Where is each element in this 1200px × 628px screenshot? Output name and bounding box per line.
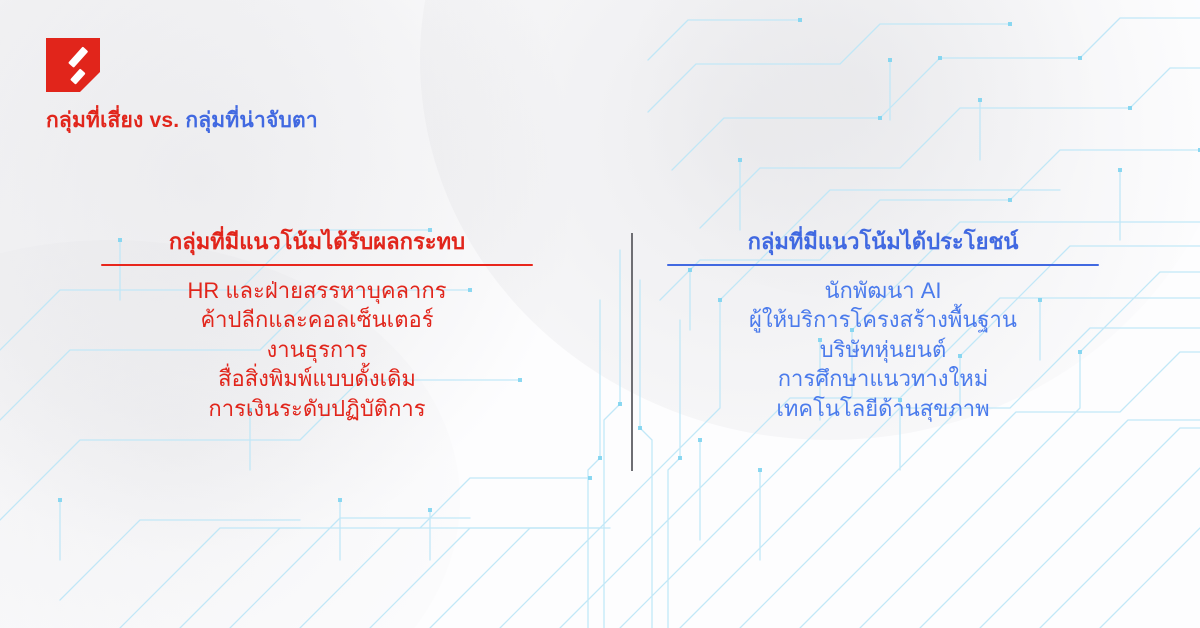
brand-logo-icon	[46, 38, 100, 92]
page-title: กลุ่มที่เสี่ยง vs. กลุ่มที่น่าจับตา	[46, 104, 318, 137]
column-to-watch-underline	[667, 264, 1099, 267]
list-item: สื่อสิ่งพิมพ์แบบดั้งเดิม	[187, 364, 446, 393]
list-item: การเงินระดับปฏิบัติการ	[187, 394, 446, 423]
list-item: บริษัทหุ่นยนต์	[749, 335, 1017, 364]
column-at-risk: กลุ่มที่มีแนวโน้มได้รับผลกระทบ HR และฝ่า…	[34, 228, 600, 423]
list-item: HR และฝ่ายสรรหาบุคลากร	[187, 276, 446, 305]
column-at-risk-underline	[101, 264, 533, 267]
list-item: ผู้ให้บริการโครงสร้างพื้นฐาน	[749, 305, 1017, 334]
comparison-columns: กลุ่มที่มีแนวโน้มได้รับผลกระทบ HR และฝ่า…	[0, 228, 1200, 488]
column-at-risk-heading: กลุ่มที่มีแนวโน้มได้รับผลกระทบ	[169, 228, 465, 256]
list-item: ค้าปลีกและคอลเซ็นเตอร์	[187, 305, 446, 334]
infographic-card: กลุ่มที่เสี่ยง vs. กลุ่มที่น่าจับตา กลุ่…	[0, 0, 1200, 628]
list-item: การศึกษาแนวทางใหม่	[749, 364, 1017, 393]
page-title-vs: vs.	[149, 109, 179, 132]
column-to-watch-heading: กลุ่มที่มีแนวโน้มได้ประโยชน์	[748, 228, 1019, 256]
column-to-watch: กลุ่มที่มีแนวโน้มได้ประโยชน์ นักพัฒนา AI…	[600, 228, 1166, 423]
list-item: เทคโนโลยีด้านสุขภาพ	[749, 394, 1017, 423]
column-at-risk-list: HR และฝ่ายสรรหาบุคลากร ค้าปลีกและคอลเซ็น…	[187, 276, 446, 423]
page-title-watch-part: กลุ่มที่น่าจับตา	[185, 109, 317, 132]
list-item: งานธุรการ	[187, 335, 446, 364]
column-to-watch-list: นักพัฒนา AI ผู้ให้บริการโครงสร้างพื้นฐาน…	[749, 276, 1017, 423]
page-title-risk-part: กลุ่มที่เสี่ยง	[46, 109, 143, 132]
list-item: นักพัฒนา AI	[749, 276, 1017, 305]
